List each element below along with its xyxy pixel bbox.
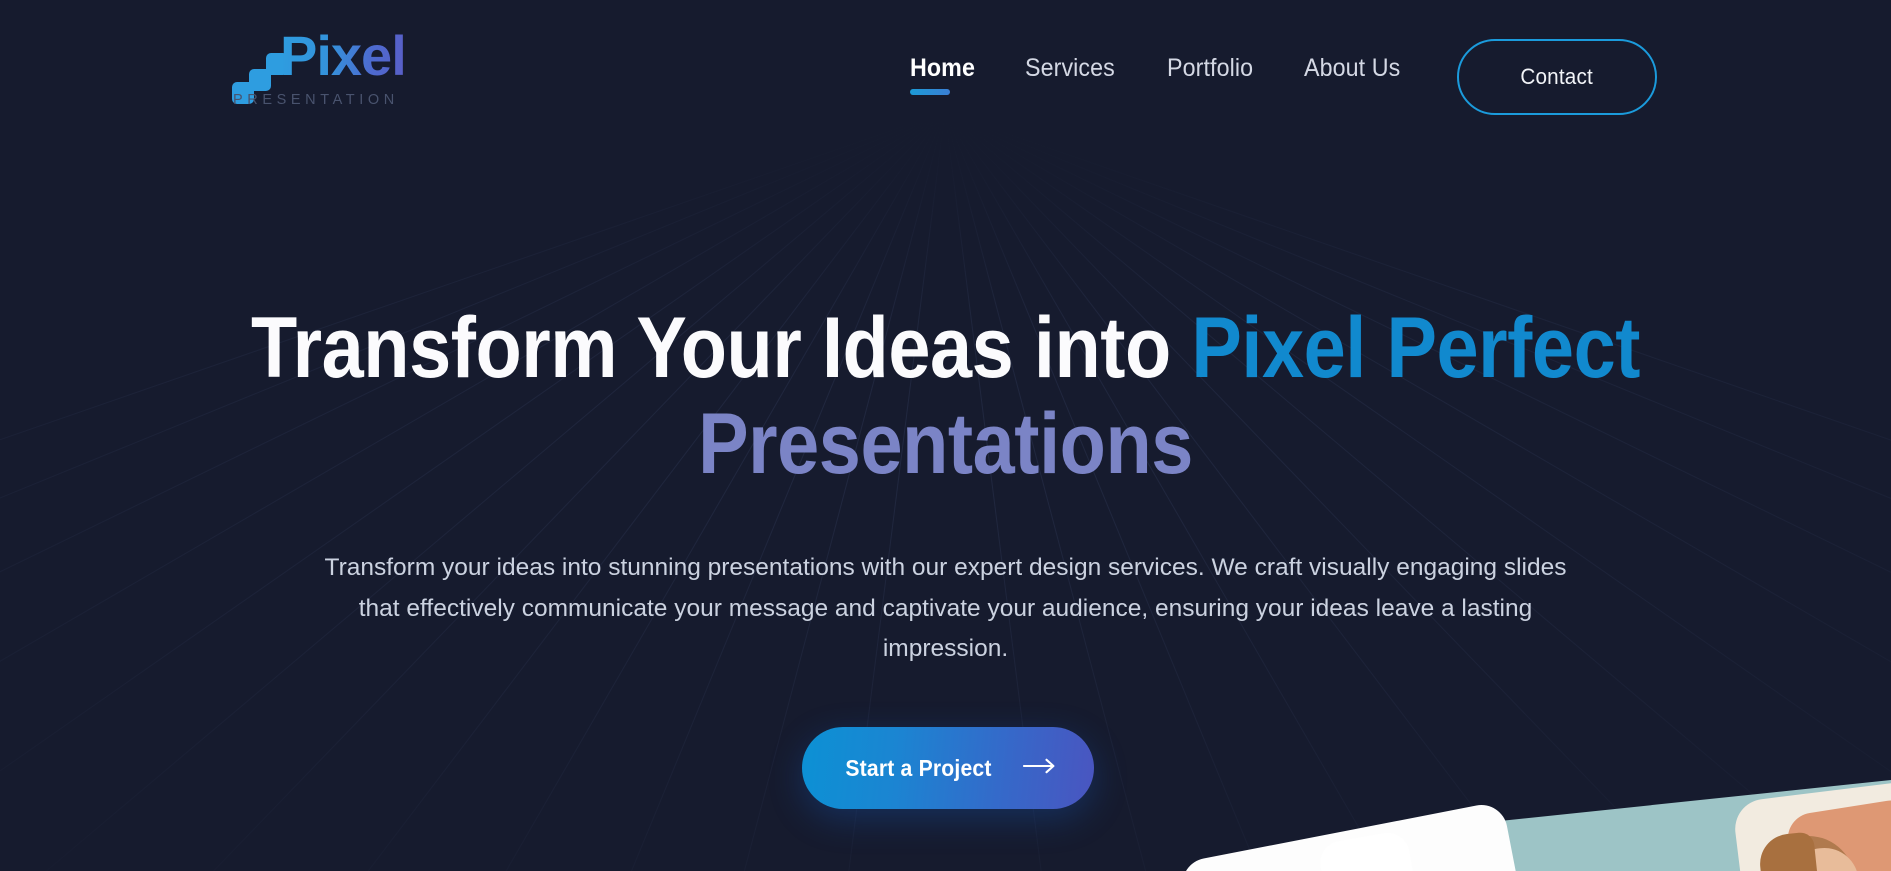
hero-subcopy: Transform your ideas into stunning prese… xyxy=(321,548,1571,670)
arrow-right-icon xyxy=(1023,758,1057,779)
collage-person-hair xyxy=(1759,832,1861,871)
logo[interactable]: Pixel PRESENTATION xyxy=(232,30,452,110)
collage-white-card-small xyxy=(1317,829,1433,871)
main-nav: Home Services Portfolio About Us xyxy=(910,54,1408,95)
nav-label-portfolio: Portfolio xyxy=(1167,54,1253,82)
hero-section: Transform Your Ideas into Pixel Perfect … xyxy=(0,0,1891,871)
nav-item-home[interactable]: Home xyxy=(910,54,975,95)
nav-item-services[interactable]: Services xyxy=(1025,54,1115,95)
headline-accent: Pixel Perfect xyxy=(1191,300,1640,396)
nav-item-about-us[interactable]: About Us xyxy=(1304,54,1400,95)
hero-headline: Transform Your Ideas into Pixel Perfect … xyxy=(113,300,1777,493)
nav-active-underline xyxy=(910,89,950,95)
nav-item-portfolio[interactable]: Portfolio xyxy=(1167,54,1253,95)
contact-button-label: Contact xyxy=(1521,64,1594,90)
cta-label: Start a Project xyxy=(845,755,991,782)
headline-line2: Presentations xyxy=(698,396,1193,492)
collage-terracotta-card xyxy=(1784,797,1891,871)
nav-label-services: Services xyxy=(1025,54,1115,82)
logo-wordmark: Pixel xyxy=(280,28,406,84)
site-header: Pixel PRESENTATION Home Services Portfol… xyxy=(0,0,1891,130)
start-a-project-button[interactable]: Start a Project xyxy=(802,727,1094,809)
headline-part1: Transform Your Ideas into xyxy=(251,300,1191,396)
landing-page: Pixel PRESENTATION Home Services Portfol… xyxy=(0,0,1891,871)
nav-label-about-us: About Us xyxy=(1304,54,1400,82)
collage-person-hair-front xyxy=(1757,831,1823,871)
contact-button[interactable]: Contact xyxy=(1457,39,1657,115)
collage-person-face xyxy=(1786,846,1864,871)
nav-label-home: Home xyxy=(910,54,975,82)
collage-teal-card xyxy=(1396,773,1891,871)
collage-white-card xyxy=(1178,801,1544,871)
collage-cream-card xyxy=(1732,778,1891,871)
logo-subtitle: PRESENTATION xyxy=(233,92,399,108)
